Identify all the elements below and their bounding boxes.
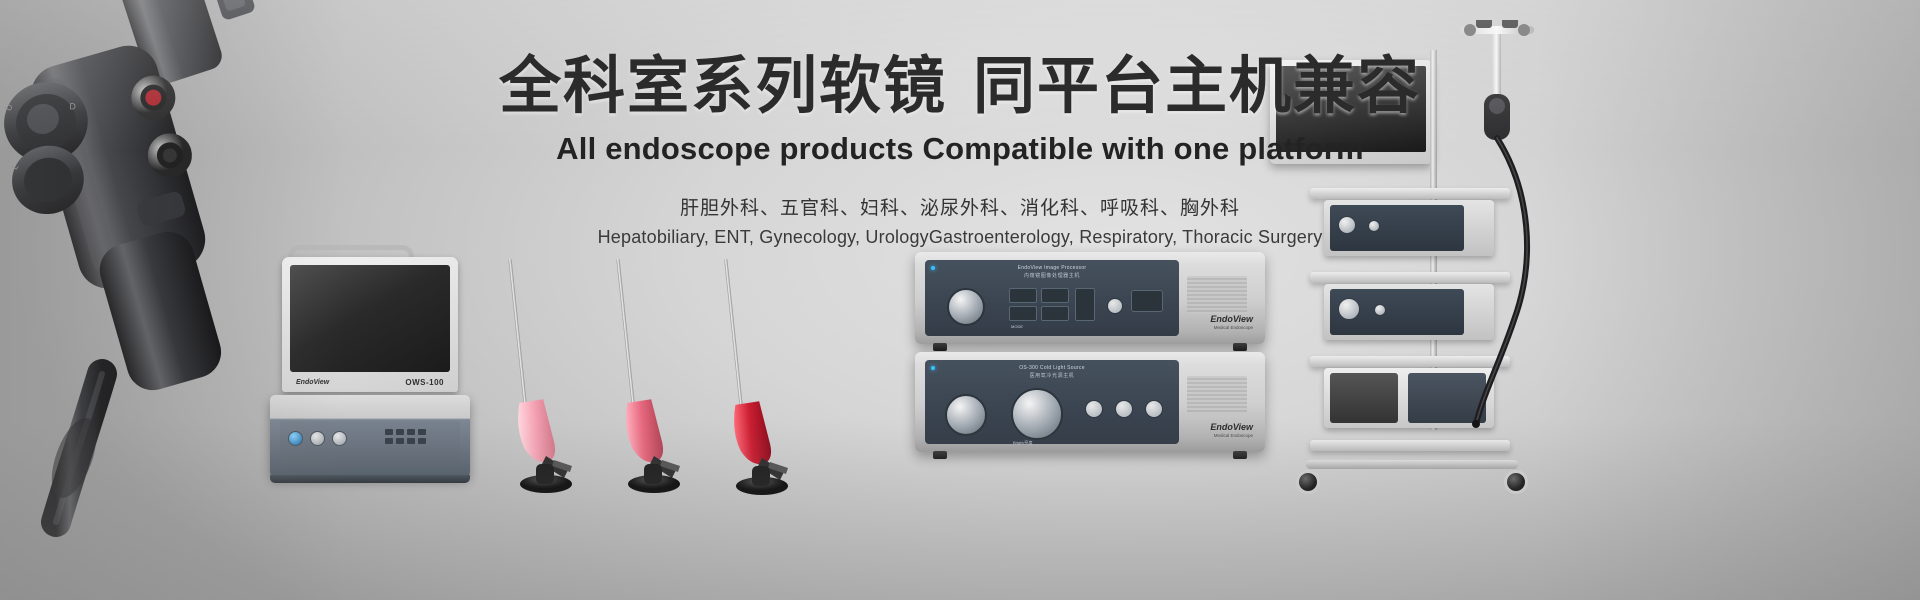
product-banner: U D L — [0, 0, 1920, 600]
console-screen — [290, 265, 450, 372]
port-knob-2[interactable] — [332, 431, 347, 446]
processor-vent — [1187, 276, 1247, 314]
cart-unit-2-knob[interactable] — [1338, 298, 1360, 320]
cart-wheel-right — [1504, 470, 1528, 494]
console-display: EndoView OWS-100 — [282, 257, 458, 392]
light-source-title-block: OS-300 Cold Light Source 医用氙冷光源主机 — [1019, 365, 1085, 379]
subheadline-english: All endoscope products Compatible with o… — [0, 130, 1920, 168]
processor-brand-sub: Medical Endoscope — [1214, 325, 1253, 330]
processor-title-cn: 内窥镜图像处理器主机 — [1018, 272, 1087, 279]
console-button-pad[interactable] — [385, 429, 426, 444]
instrument-group-image — [500, 250, 890, 500]
ows-console-image: EndoView OWS-100 — [240, 245, 470, 485]
light-source-brightness-knob[interactable] — [1011, 388, 1063, 440]
processor-stack-image: EndoView Image Processor 内窥镜图像处理器主机 MODE… — [915, 252, 1275, 467]
light-source-led-icon — [931, 366, 935, 370]
cart-unit-3-panel — [1330, 373, 1398, 423]
instrument-2 — [616, 259, 680, 493]
console-brand: EndoView — [296, 379, 329, 386]
cart-shelf-4 — [1310, 440, 1510, 451]
processor-button-d[interactable] — [1041, 306, 1069, 321]
console-model: OWS-100 — [405, 378, 444, 387]
light-source-knob-label: Bright/亮度 — [1013, 440, 1033, 446]
processor-usb-port[interactable] — [1131, 290, 1163, 312]
light-source-title-en: OS-300 Cold Light Source — [1019, 365, 1085, 371]
console-foot — [270, 475, 470, 483]
cart-base-frame — [1306, 460, 1518, 469]
light-source-brand-block: EndoView Medical Endoscope — [1185, 362, 1257, 442]
light-source-unit: OS-300 Cold Light Source 医用氙冷光源主机 Bright… — [915, 352, 1265, 452]
instruments-illustration — [500, 250, 890, 500]
processor-button-c[interactable] — [1041, 288, 1069, 303]
headline-part-1: 全科室系列软镜 — [499, 52, 947, 121]
image-processor-unit: EndoView Image Processor 内窥镜图像处理器主机 MODE… — [915, 252, 1265, 344]
headline: 全科室系列软镜同平台主机兼容 — [0, 50, 1920, 124]
departments-english: Hepatobiliary, ENT, Gynecology, UrologyG… — [0, 224, 1920, 250]
light-source-title-cn: 医用氙冷光源主机 — [1019, 372, 1085, 379]
console-knob-row — [288, 431, 347, 446]
power-knob[interactable] — [288, 431, 303, 446]
processor-title-block: EndoView Image Processor 内窥镜图像处理器主机 — [1018, 265, 1087, 279]
light-source-button-3[interactable] — [1145, 400, 1163, 418]
processor-button-a[interactable] — [1009, 288, 1037, 303]
light-source-vent — [1187, 376, 1247, 414]
departments-chinese: 肝胆外科、五官科、妇科、泌尿外科、消化科、呼吸科、胸外科 — [0, 196, 1920, 222]
light-source-port-knob[interactable] — [945, 394, 987, 436]
light-source-brand-sub: Medical Endoscope — [1214, 433, 1253, 438]
light-source-front-panel: OS-300 Cold Light Source 医用氙冷光源主机 Bright… — [925, 360, 1179, 444]
cart-wheel-left — [1296, 470, 1320, 494]
headline-part-2: 同平台主机兼容 — [973, 52, 1421, 121]
light-source-foot-right — [1233, 451, 1247, 459]
console-control-panel — [280, 421, 460, 467]
cart-unit-2-button[interactable] — [1374, 304, 1386, 316]
banner-text-block: 全科室系列软镜同平台主机兼容 All endoscope products Co… — [0, 50, 1920, 250]
processor-title-en: EndoView Image Processor — [1018, 265, 1087, 271]
instrument-1 — [508, 259, 572, 493]
console-base — [270, 395, 470, 477]
instrument-3 — [724, 259, 788, 495]
processor-front-panel: EndoView Image Processor 内窥镜图像处理器主机 MODE — [925, 260, 1179, 336]
processor-button-b[interactable] — [1009, 306, 1037, 321]
light-source-foot-left — [933, 451, 947, 459]
processor-main-knob[interactable] — [947, 288, 985, 326]
processor-foot-right — [1233, 343, 1247, 351]
processor-brand: EndoView — [1210, 314, 1253, 324]
processor-foot-left — [933, 343, 947, 351]
processor-round-button[interactable] — [1107, 298, 1123, 314]
light-source-brand: EndoView — [1210, 422, 1253, 432]
power-led-icon — [931, 266, 935, 270]
port-knob-1[interactable] — [310, 431, 325, 446]
light-source-button-2[interactable] — [1115, 400, 1133, 418]
processor-brand-block: EndoView Medical Endoscope — [1185, 262, 1257, 334]
processor-label-1: MODE — [1011, 324, 1023, 329]
light-source-button-1[interactable] — [1085, 400, 1103, 418]
processor-button-e[interactable] — [1075, 288, 1095, 321]
